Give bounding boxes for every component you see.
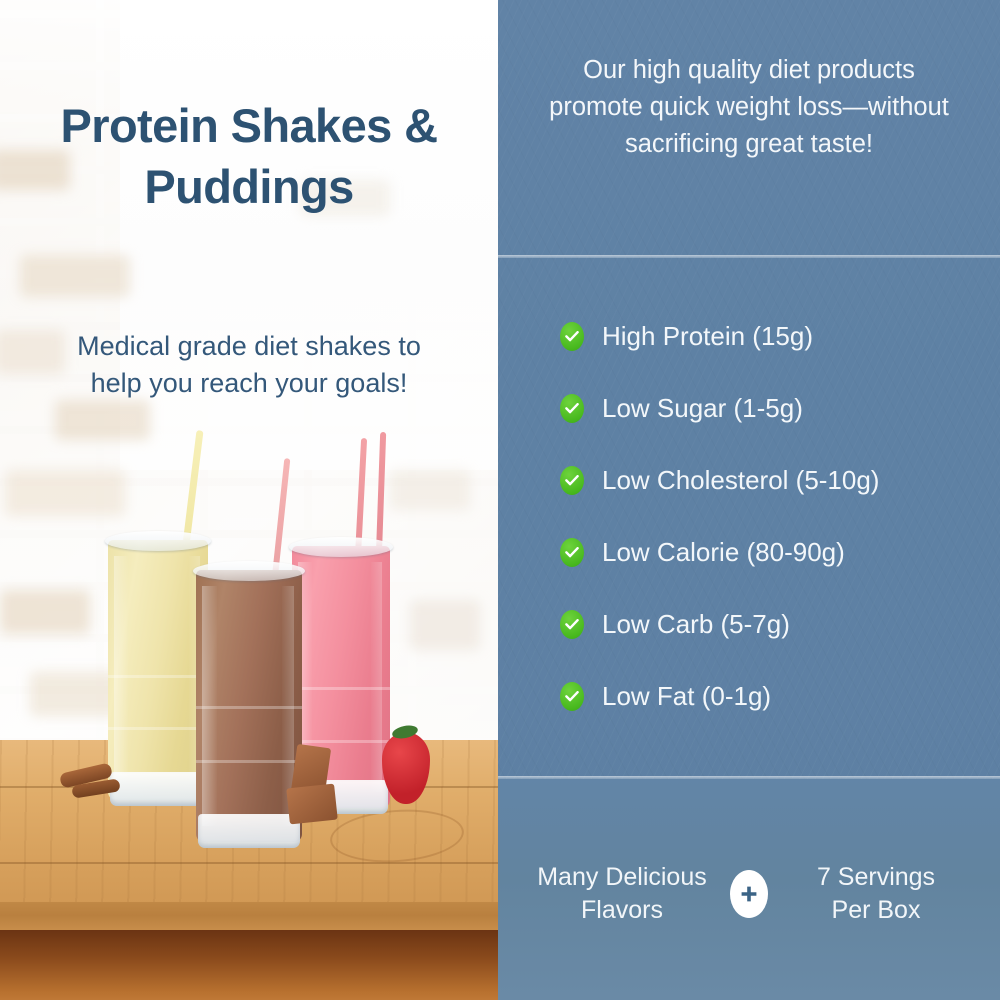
feature-label: Low Carb (5-7g): [602, 611, 790, 637]
check-circle-icon: [560, 394, 584, 423]
glass-base: [110, 772, 206, 806]
tagline-line-1: Our high quality diet products: [583, 56, 915, 84]
tagline-line-2: promote quick weight loss—without: [549, 93, 949, 121]
chocolate-shake-liquid: [196, 570, 302, 842]
footer-servings: 7 Servings Per Box: [782, 861, 970, 926]
chocolate-chunk: [286, 784, 338, 825]
promo-poster: Protein Shakes & Puddings Medical grade …: [0, 0, 1000, 1000]
board-shadow-band: [0, 930, 498, 1000]
page-subtitle-line-1: Medical grade diet shakes to: [77, 331, 421, 361]
feature-label: Low Fat (0-1g): [602, 683, 771, 709]
right-panel: Our high quality diet products promote q…: [498, 0, 1000, 1000]
feature-item-low-calorie: Low Calorie (80-90g): [560, 516, 1000, 588]
feature-item-low-sugar: Low Sugar (1-5g): [560, 372, 1000, 444]
footer-bar: Many Delicious Flavors 7 Servings Per Bo…: [498, 779, 1000, 1000]
glass-ridge: [108, 675, 208, 678]
feature-label: Low Cholesterol (5-10g): [602, 467, 879, 493]
glass-ridge: [292, 740, 390, 743]
glass-ridge: [292, 687, 390, 690]
glass-facet: [114, 556, 128, 785]
glass-rim: [105, 531, 211, 551]
feature-item-high-protein: High Protein (15g): [560, 300, 1000, 372]
feature-label: Low Sugar (1-5g): [602, 395, 803, 421]
plus-circle-icon: [730, 870, 768, 918]
page-subtitle-line-2: help you reach your goals!: [91, 368, 408, 398]
glass-ridge: [196, 760, 302, 763]
check-circle-icon: [560, 682, 584, 711]
footer-flavors-line-1: Many Delicious: [537, 863, 707, 891]
feature-item-low-fat: Low Fat (0-1g): [560, 660, 1000, 732]
left-panel: Protein Shakes & Puddings Medical grade …: [0, 0, 498, 1000]
tagline: Our high quality diet products promote q…: [498, 52, 1000, 164]
feature-label: Low Calorie (80-90g): [602, 539, 845, 565]
product-photo: [0, 430, 498, 1000]
vanilla-shake-liquid: [108, 540, 208, 800]
board-front-edge: [0, 902, 498, 932]
vanilla-shake-glass: [108, 540, 208, 800]
glass-facet: [371, 562, 382, 793]
glass-ridge: [108, 727, 208, 730]
footer-content: Many Delicious Flavors 7 Servings Per Bo…: [498, 861, 1000, 926]
page-title-line-2: Puddings: [0, 156, 498, 217]
check-circle-icon: [560, 322, 584, 351]
footer-servings-line-1: 7 Servings: [817, 863, 935, 891]
page-title-line-1: Protein Shakes &: [61, 99, 438, 152]
brick-texture-patch: [20, 255, 130, 297]
page-title: Protein Shakes & Puddings: [0, 95, 498, 217]
feature-item-low-carb: Low Carb (5-7g): [560, 588, 1000, 660]
chocolate-shake-glass: [196, 570, 302, 842]
feature-item-low-cholesterol: Low Cholesterol (5-10g): [560, 444, 1000, 516]
board-seam: [0, 862, 498, 864]
check-circle-icon: [560, 466, 584, 495]
check-circle-icon: [560, 610, 584, 639]
glass-base: [198, 814, 300, 848]
footer-servings-line-2: Per Box: [832, 896, 921, 924]
feature-label: High Protein (15g): [602, 323, 813, 349]
divider-top: [498, 255, 1000, 258]
feature-list: High Protein (15g) Low Sugar (1-5g) Low …: [498, 300, 1000, 732]
footer-flavors: Many Delicious Flavors: [528, 861, 716, 926]
page-subtitle: Medical grade diet shakes to help you re…: [0, 328, 498, 401]
tagline-line-3: sacrificing great taste!: [625, 130, 873, 158]
footer-flavors-line-2: Flavors: [581, 896, 663, 924]
glass-rim: [193, 561, 305, 581]
glass-rim: [289, 537, 393, 557]
check-circle-icon: [560, 538, 584, 567]
glass-ridge: [196, 706, 302, 709]
